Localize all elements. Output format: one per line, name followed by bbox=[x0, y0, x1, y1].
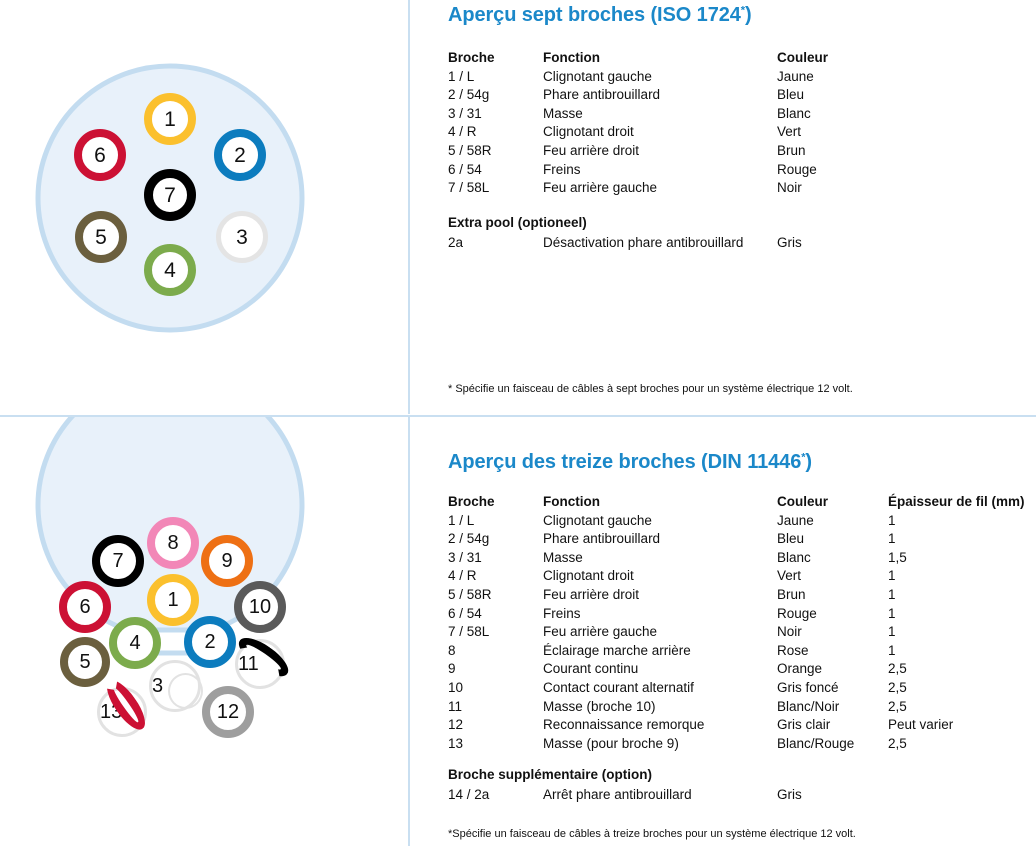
cell-broche: 12 bbox=[448, 716, 463, 735]
cell-epaisseur: 2,5 bbox=[888, 735, 907, 754]
column-header-couleur: Couleur bbox=[777, 49, 828, 68]
cell-couleur: Blanc bbox=[777, 105, 811, 124]
cell-fonction: Clignotant droit bbox=[543, 567, 634, 586]
cell-couleur: Jaune bbox=[777, 68, 814, 87]
cell-couleur: Gris bbox=[777, 234, 802, 253]
pin-label: 4 bbox=[164, 260, 176, 281]
cell-couleur: Vert bbox=[777, 567, 801, 586]
column-header-fonction: Fonction bbox=[543, 493, 600, 512]
pin-label: 6 bbox=[94, 145, 106, 166]
section-seven-vertical-divider bbox=[408, 0, 410, 414]
cell-couleur: Blanc/Rouge bbox=[777, 735, 854, 754]
cell-couleur: Noir bbox=[777, 623, 802, 642]
cell-fonction: Freins bbox=[543, 161, 581, 180]
cell-fonction: Feu arrière droit bbox=[543, 586, 639, 605]
cell-epaisseur: 1 bbox=[888, 512, 896, 531]
section-seven-pin: 1 2 3 4 5 6 7 bbox=[0, 0, 1036, 414]
pin-1: 1 bbox=[147, 574, 199, 626]
pin-2: 2 bbox=[184, 616, 236, 668]
pin-3: 3 bbox=[216, 211, 268, 263]
cell-fonction: Feu arrière gauche bbox=[543, 179, 657, 198]
section-thirteen-vertical-divider bbox=[408, 417, 410, 846]
cell-fonction: Éclairage marche arrière bbox=[543, 642, 691, 661]
pin-label: 5 bbox=[79, 652, 90, 672]
cell-broche: 5 / 58R bbox=[448, 586, 492, 605]
cell-couleur: Orange bbox=[777, 660, 822, 679]
cell-broche: 1 / L bbox=[448, 68, 474, 87]
cell-broche: 10 bbox=[448, 679, 463, 698]
cell-fonction: Masse (broche 10) bbox=[543, 698, 656, 717]
cell-couleur: Gris clair bbox=[777, 716, 830, 735]
pin-9: 9 bbox=[201, 535, 253, 587]
page-root: 1 2 3 4 5 6 7 bbox=[0, 0, 1036, 846]
column-header-fonction: Fonction bbox=[543, 49, 600, 68]
cell-broche: 6 / 54 bbox=[448, 161, 482, 180]
seven-pin-connector-diagram bbox=[0, 0, 406, 414]
cell-broche: 4 / R bbox=[448, 567, 477, 586]
cell-broche: 4 / R bbox=[448, 123, 477, 142]
seven-pin-text-column: Aperçu sept broches (ISO 1724*) Broche F… bbox=[430, 0, 1036, 414]
cell-couleur: Gris foncé bbox=[777, 679, 839, 698]
cell-couleur: Bleu bbox=[777, 86, 804, 105]
cell-epaisseur: 1 bbox=[888, 642, 896, 661]
pin-label: 2 bbox=[234, 145, 246, 166]
cell-epaisseur: Peut varier bbox=[888, 716, 953, 735]
cell-couleur: Brun bbox=[777, 142, 806, 161]
cell-couleur: Jaune bbox=[777, 512, 814, 531]
cell-couleur: Noir bbox=[777, 179, 802, 198]
cell-fonction: Arrêt phare antibrouillard bbox=[543, 786, 692, 805]
pin-10: 10 bbox=[234, 581, 286, 633]
cell-fonction: Désactivation phare antibrouillard bbox=[543, 234, 743, 253]
column-header-couleur: Couleur bbox=[777, 493, 828, 512]
pin-inner-ring bbox=[168, 673, 203, 709]
cell-broche: 3 / 31 bbox=[448, 105, 482, 124]
cell-epaisseur: 2,5 bbox=[888, 698, 907, 717]
cell-fonction: Masse bbox=[543, 549, 583, 568]
column-header-broche: Broche bbox=[448, 493, 495, 512]
pin-3: 3 bbox=[149, 660, 201, 712]
thirteen-pin-text-column: Aperçu des treize broches (DIN 11446*) B… bbox=[430, 417, 1036, 846]
pin-5: 5 bbox=[75, 211, 127, 263]
cell-epaisseur: 1 bbox=[888, 530, 896, 549]
heading-close: ) bbox=[745, 4, 752, 26]
cell-broche: 3 / 31 bbox=[448, 549, 482, 568]
pin-6: 6 bbox=[59, 581, 111, 633]
pin-2: 2 bbox=[214, 129, 266, 181]
cell-broche: 1 / L bbox=[448, 512, 474, 531]
pin-8: 8 bbox=[147, 517, 199, 569]
cell-couleur: Rouge bbox=[777, 161, 817, 180]
cell-couleur: Rouge bbox=[777, 605, 817, 624]
cell-broche: 14 / 2a bbox=[448, 786, 489, 805]
pin-label: 3 bbox=[152, 676, 163, 696]
column-header-epaisseur: Épaisseur de fil (mm) bbox=[888, 493, 1025, 512]
pin-7: 7 bbox=[144, 169, 196, 221]
cell-broche: 7 / 58L bbox=[448, 179, 489, 198]
cell-couleur: Blanc/Noir bbox=[777, 698, 839, 717]
pin-4: 4 bbox=[144, 244, 196, 296]
seven-pin-diagram-column: 1 2 3 4 5 6 7 bbox=[0, 0, 406, 414]
cell-fonction: Phare antibrouillard bbox=[543, 86, 660, 105]
pin-6: 6 bbox=[74, 129, 126, 181]
thirteen-pin-footnote: *Spécifie un faisceau de câbles à treize… bbox=[448, 828, 856, 840]
pin-12: 12 bbox=[202, 686, 254, 738]
cell-broche: 9 bbox=[448, 660, 456, 679]
pin-label: 10 bbox=[249, 597, 271, 617]
cell-broche: 6 / 54 bbox=[448, 605, 482, 624]
cell-broche: 11 bbox=[448, 698, 462, 717]
pin-label: 1 bbox=[167, 590, 178, 610]
pin-label: 1 bbox=[164, 109, 176, 130]
cell-couleur: Bleu bbox=[777, 530, 804, 549]
cell-fonction: Feu arrière gauche bbox=[543, 623, 657, 642]
cell-fonction: Freins bbox=[543, 605, 581, 624]
cell-fonction: Courant continu bbox=[543, 660, 638, 679]
cell-couleur: Vert bbox=[777, 123, 801, 142]
pin-11: 11 bbox=[235, 639, 285, 689]
pin-5: 5 bbox=[60, 637, 110, 687]
seven-pin-heading: Aperçu sept broches (ISO 1724*) bbox=[448, 4, 752, 27]
cell-epaisseur: 1 bbox=[888, 567, 896, 586]
cell-couleur: Brun bbox=[777, 586, 806, 605]
cell-fonction: Feu arrière droit bbox=[543, 142, 639, 161]
cell-epaisseur: 1,5 bbox=[888, 549, 907, 568]
pin-1: 1 bbox=[144, 93, 196, 145]
pin-label: 4 bbox=[129, 633, 140, 653]
cell-broche: 7 / 58L bbox=[448, 623, 489, 642]
heading-text: Aperçu des treize broches (DIN 11446 bbox=[448, 451, 801, 473]
cell-fonction: Phare antibrouillard bbox=[543, 530, 660, 549]
pin-4: 4 bbox=[109, 617, 161, 669]
thirteen-pin-heading: Aperçu des treize broches (DIN 11446*) bbox=[448, 451, 812, 474]
column-header-broche: Broche bbox=[448, 49, 495, 68]
cell-fonction: Contact courant alternatif bbox=[543, 679, 694, 698]
cell-fonction: Clignotant droit bbox=[543, 123, 634, 142]
cell-couleur: Rose bbox=[777, 642, 809, 661]
thirteen-pin-diagram-column: 1 2 3 4 5 6 7 bbox=[0, 417, 406, 846]
cell-epaisseur: 1 bbox=[888, 605, 896, 624]
pin-label: 7 bbox=[164, 185, 176, 206]
pin-7: 7 bbox=[92, 535, 144, 587]
cell-broche: 2 / 54g bbox=[448, 530, 489, 549]
cell-fonction: Masse bbox=[543, 105, 583, 124]
pin-label: 12 bbox=[217, 702, 239, 722]
section-thirteen-pin: 1 2 3 4 5 6 7 bbox=[0, 417, 1036, 846]
cell-epaisseur: 2,5 bbox=[888, 679, 907, 698]
pin-label: 8 bbox=[167, 533, 178, 553]
thirteen-pin-extra-title: Broche supplémentaire (option) bbox=[448, 767, 652, 782]
pin-label: 2 bbox=[204, 632, 215, 652]
cell-fonction: Reconnaissance remorque bbox=[543, 716, 704, 735]
cell-broche: 13 bbox=[448, 735, 463, 754]
cell-couleur: Gris bbox=[777, 786, 802, 805]
cell-broche: 2a bbox=[448, 234, 463, 253]
cell-broche: 5 / 58R bbox=[448, 142, 492, 161]
cell-epaisseur: 2,5 bbox=[888, 660, 907, 679]
cell-fonction: Masse (pour broche 9) bbox=[543, 735, 679, 754]
cell-epaisseur: 1 bbox=[888, 586, 896, 605]
cell-fonction: Clignotant gauche bbox=[543, 512, 652, 531]
pin-label: 5 bbox=[95, 227, 107, 248]
heading-close: ) bbox=[805, 451, 812, 473]
pin-13: 13 bbox=[97, 687, 147, 737]
seven-pin-extra-title: Extra pool (optioneel) bbox=[448, 215, 587, 230]
pin-label: 6 bbox=[79, 597, 90, 617]
cell-couleur: Blanc bbox=[777, 549, 811, 568]
cell-epaisseur: 1 bbox=[888, 623, 896, 642]
pin-label: 7 bbox=[112, 551, 123, 571]
heading-text: Aperçu sept broches (ISO 1724 bbox=[448, 4, 741, 26]
cell-broche: 2 / 54g bbox=[448, 86, 489, 105]
seven-pin-footnote: * Spécifie un faisceau de câbles à sept … bbox=[448, 383, 853, 395]
pin-label: 3 bbox=[236, 227, 248, 248]
cell-fonction: Clignotant gauche bbox=[543, 68, 652, 87]
cell-broche: 8 bbox=[448, 642, 456, 661]
pin-label: 9 bbox=[221, 551, 232, 571]
